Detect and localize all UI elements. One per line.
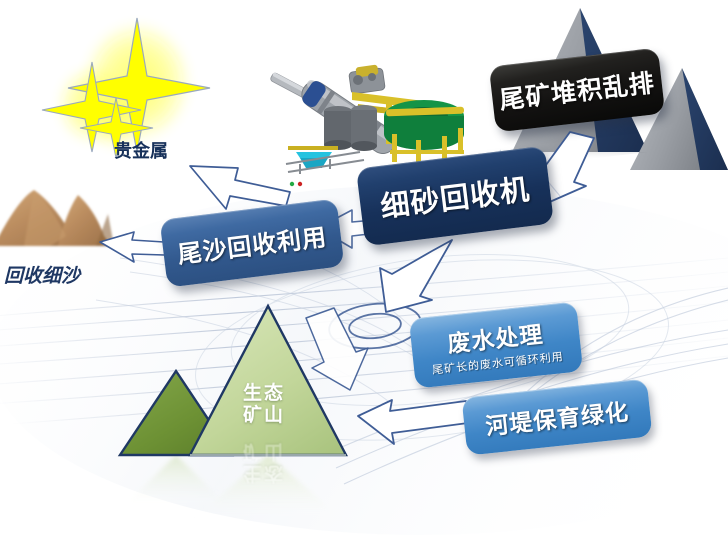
arrow-reuse-to-precious (190, 166, 290, 209)
callout-riverbank-greening-title: 河堤保育绿化 (484, 393, 631, 442)
label-recovered-sand: 回收细沙 (4, 261, 80, 288)
callout-wastewater-treatment[interactable]: 废水处理 尾矿长的废水可循环利用 (409, 301, 583, 388)
arrow-wastewater-to-ecomine (306, 308, 368, 390)
label-precious-metal: 贵金属 (114, 137, 168, 163)
callout-tailings-sand-reuse-title: 尾沙回收利用 (175, 216, 328, 269)
callout-riverbank-greening[interactable]: 河堤保育绿化 (461, 378, 652, 455)
arrow-riverbank-to-ecomine (358, 400, 468, 444)
callout-sand-recycling-machine-title: 细砂回收机 (378, 166, 532, 226)
label-eco-mine-reflection: 生态 矿山 (229, 440, 299, 484)
sand-pile-icon (0, 190, 114, 246)
label-eco-mine: 生态 矿山 (229, 383, 299, 427)
callout-tailings-sand-reuse[interactable]: 尾沙回收利用 (160, 198, 345, 287)
cycle-ring-icon (327, 299, 423, 352)
callout-tailings-piling[interactable]: 尾矿堆积乱排 (489, 48, 665, 133)
callout-sand-recycling-machine[interactable]: 细砂回收机 (356, 146, 554, 247)
diagram-canvas: 尾矿堆积乱排 细砂回收机 尾沙回收利用 废水处理 尾矿长的废水可循环利用 河堤保… (0, 0, 728, 535)
callout-tailings-piling-title: 尾矿堆积乱排 (497, 63, 656, 116)
arrow-machine-to-wastewater (380, 240, 452, 312)
